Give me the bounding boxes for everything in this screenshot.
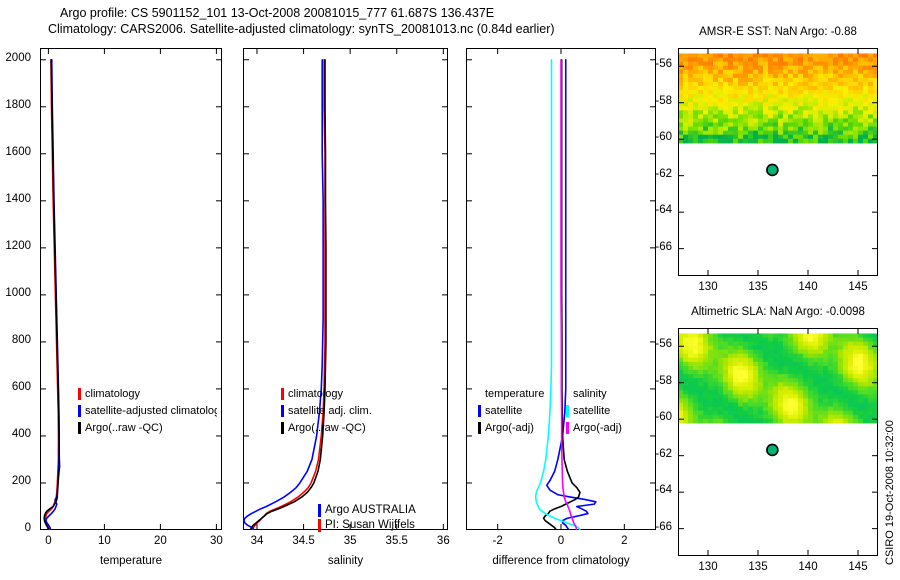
legend-label: climatology [288,388,343,400]
heatmap-cell [758,58,764,63]
heatmap-cell [768,74,774,79]
heatmap-cell [843,53,849,58]
heatmap-cell [718,338,724,343]
heatmap-cell [788,415,794,420]
heatmap-cell [763,53,769,58]
heatmap-cell [713,74,719,79]
heatmap-cell [783,354,789,359]
heatmap-cell [838,114,844,119]
map-y-tick-label: -64 [636,484,672,496]
heatmap-cell [718,123,724,128]
heatmap-cell [713,378,719,383]
heatmap-cell [798,102,804,107]
heatmap-cell [703,333,709,338]
heatmap-cell [753,350,759,355]
legend-label: satellite [573,405,610,417]
heatmap-cell [843,374,849,379]
heatmap-cell [743,390,749,395]
heatmap-cell [713,98,719,103]
heatmap-cell [768,123,774,128]
heatmap-cell [753,66,759,71]
heatmap-cell [713,90,719,95]
heatmap-cell [868,74,874,79]
heatmap-cell [743,407,749,412]
heatmap-cell [748,362,754,367]
heatmap-cell [808,411,814,416]
heatmap-cell [788,66,794,71]
heatmap-cell [863,90,869,95]
heatmap-cell [723,407,729,412]
heatmap-cell [773,114,779,119]
heatmap-cell [703,127,709,132]
heatmap-cell [743,102,749,107]
heatmap-cell [758,407,764,412]
heatmap-cell [718,78,724,83]
heatmap-cell [763,411,769,416]
heatmap-cell [708,370,714,375]
heatmap-cell [858,407,864,412]
heatmap-cell [703,131,709,136]
heatmap-cell [688,82,694,87]
heatmap-cell [733,338,739,343]
heatmap-cell [863,374,869,379]
heatmap-cell [693,390,699,395]
heatmap-cell [708,127,714,132]
heatmap-cell [748,338,754,343]
heatmap-cell [863,74,869,79]
heatmap-cell [783,358,789,363]
heatmap-cell [743,362,749,367]
heatmap-cell [848,102,854,107]
heatmap-cell [718,419,724,424]
heatmap-cell [728,70,734,75]
heatmap-cell [768,98,774,103]
heatmap-cell [738,370,744,375]
heatmap-cell [733,333,739,338]
heatmap-cell [803,411,809,416]
heatmap-cell [713,123,719,128]
heatmap-cell [768,118,774,123]
heatmap-cell [793,131,799,136]
heatmap-cell [863,362,869,367]
heatmap-cell [843,118,849,123]
heatmap-cell [748,118,754,123]
heatmap-cell [798,419,804,424]
x-tick-label: -2 [468,535,528,547]
map-x-tick-label: 140 [783,281,833,293]
heatmap-cell [693,66,699,71]
y-tick-label: 800 [0,334,31,346]
heatmap-cell [718,74,724,79]
heatmap-cell [848,110,854,115]
heatmap-cell [698,106,704,111]
map-y-tick-label: -60 [636,131,672,143]
argo-position-marker[interactable] [767,444,778,455]
heatmap-cell [793,53,799,58]
heatmap-cell [823,53,829,58]
heatmap-cell [733,98,739,103]
heatmap-cell [793,62,799,67]
heatmap-cell [723,386,729,391]
heatmap-cell [788,419,794,424]
heatmap-cell [693,342,699,347]
heatmap-cell [698,358,704,363]
heatmap-cell [758,390,764,395]
heatmap-cell [753,110,759,115]
heatmap-cell [863,123,869,128]
heatmap-cell [743,127,749,132]
heatmap-cell [803,74,809,79]
heatmap-cell [693,350,699,355]
heatmap-cell [783,139,789,144]
heatmap-cell [818,350,824,355]
heatmap-cell [713,419,719,424]
heatmap-cell [783,62,789,67]
heatmap-cell [738,415,744,420]
heatmap-cell [683,411,689,416]
heatmap-cell [843,62,849,67]
heatmap-cell [728,366,734,371]
heatmap-cell [768,394,774,399]
heatmap-cell [688,403,694,408]
heatmap-cell [763,407,769,412]
heatmap-cell [818,370,824,375]
heatmap-cell [733,411,739,416]
heatmap-cell [748,415,754,420]
heatmap-cell [813,118,819,123]
heatmap-cell [753,354,759,359]
heatmap-cell [793,110,799,115]
heatmap-cell [693,374,699,379]
heatmap-cell [763,362,769,367]
heatmap-cell [798,106,804,111]
heatmap-cell [813,419,819,424]
heatmap-cell [718,354,724,359]
heatmap-cell [773,370,779,375]
heatmap-cell [808,415,814,420]
heatmap-cell [808,382,814,387]
heatmap-cell [758,114,764,119]
heatmap-cell [818,78,824,83]
heatmap-cell [818,139,824,144]
heatmap-cell [693,135,699,140]
heatmap-cell [778,346,784,351]
heatmap-cell [798,114,804,119]
heatmap-cell [793,378,799,383]
heatmap-cell [823,127,829,132]
heatmap-cell [693,82,699,87]
heatmap-cell [698,407,704,412]
heatmap-cell [863,98,869,103]
heatmap-cell [683,135,689,140]
heatmap-cell [728,338,734,343]
heatmap-cell [848,366,854,371]
heatmap-cell [813,390,819,395]
heatmap-cell [798,366,804,371]
heatmap-cell [813,98,819,103]
heatmap-cell [743,66,749,71]
heatmap-cell [758,350,764,355]
heatmap-cell [828,94,834,99]
heatmap-cell [823,370,829,375]
heatmap-cell [758,118,764,123]
heatmap-cell [753,366,759,371]
heatmap-cell [773,86,779,91]
heatmap-cell [788,123,794,128]
heatmap-cell [758,106,764,111]
heatmap-cell [788,346,794,351]
heatmap-cell [718,66,724,71]
heatmap-cell [698,390,704,395]
heatmap-cell [768,382,774,387]
heatmap-cell [788,53,794,58]
heatmap-cell [743,346,749,351]
heatmap-cell [738,66,744,71]
heatmap-cell [723,358,729,363]
heatmap-cell [748,346,754,351]
heatmap-cell [753,118,759,123]
map-plot-area [678,48,878,276]
heatmap-cell [803,386,809,391]
heatmap-cell [863,338,869,343]
heatmap-cell [813,62,819,67]
heatmap-cell [808,127,814,132]
heatmap-cell [843,82,849,87]
heatmap-cell [743,403,749,408]
heatmap-cell [713,338,719,343]
map-y-tick-label: -62 [636,448,672,460]
heatmap-cell [793,66,799,71]
heatmap-cell [833,102,839,107]
heatmap-cell [803,123,809,128]
heatmap-cell [853,374,859,379]
legend-label: satellite-adjusted climatology [85,405,217,417]
heatmap-cell [698,338,704,343]
heatmap-cell [753,338,759,343]
heatmap-cell [843,114,849,119]
heatmap-cell [808,66,814,71]
heatmap-cell [718,86,724,91]
heatmap-cell [818,407,824,412]
heatmap-cell [748,366,754,371]
heatmap-cell [863,394,869,399]
heatmap-cell [793,127,799,132]
heatmap-cell [778,394,784,399]
heatmap-cell [723,374,729,379]
heatmap-cell [863,366,869,371]
heatmap-cell [848,114,854,119]
heatmap-cell [818,366,824,371]
heatmap-cell [813,362,819,367]
heatmap-cell [783,333,789,338]
heatmap-cell [753,403,759,408]
heatmap-cell [773,407,779,412]
heatmap-cell [773,338,779,343]
heatmap-cell [783,403,789,408]
heatmap-cell [803,403,809,408]
heatmap-cell [758,139,764,144]
heatmap-cell [823,378,829,383]
heatmap-cell [808,354,814,359]
heatmap-cell [823,70,829,75]
heatmap-cell [853,398,859,403]
heatmap-cell [733,358,739,363]
heatmap-cell [783,102,789,107]
heatmap-cell [783,338,789,343]
heatmap-cell [863,398,869,403]
heatmap-cell [768,102,774,107]
heatmap-cell [843,70,849,75]
heatmap-cell [698,403,704,408]
heatmap-cell [843,94,849,99]
heatmap-cell [748,131,754,136]
heatmap-cell [773,398,779,403]
heatmap-cell [703,90,709,95]
heatmap-cell [728,346,734,351]
heatmap-cell [713,362,719,367]
heatmap-cell [693,131,699,136]
heatmap-cell [843,102,849,107]
heatmap-cell [768,386,774,391]
heatmap-cell [718,131,724,136]
heatmap-cell [703,135,709,140]
heatmap-cell [828,378,834,383]
heatmap-cell [828,411,834,416]
heatmap-cell [713,82,719,87]
heatmap-cell [848,139,854,144]
heatmap-cell [703,74,709,79]
heatmap-cell [858,131,864,136]
heatmap-cell [863,378,869,383]
heatmap-cell [833,419,839,424]
heatmap-cell [693,106,699,111]
heatmap-cell [803,102,809,107]
heatmap-cell [768,139,774,144]
heatmap-cell [798,110,804,115]
heatmap-cell [868,62,874,67]
heatmap-cell [778,378,784,383]
heatmap-cell [728,86,734,91]
heatmap-cell [863,66,869,71]
heatmap-cell [823,66,829,71]
argo-position-marker[interactable] [767,164,778,175]
heatmap-cell [763,139,769,144]
heatmap-cell [778,407,784,412]
heatmap-cell [683,366,689,371]
heatmap-cell [858,386,864,391]
heatmap-cell [688,94,694,99]
heatmap-cell [783,58,789,63]
heatmap-cell [828,135,834,140]
heatmap-cell [703,53,709,58]
heatmap-cell [833,378,839,383]
heatmap-cell [793,350,799,355]
heatmap-cell [733,53,739,58]
heatmap-cell [743,382,749,387]
heatmap-cell [698,58,704,63]
heatmap-cell [758,378,764,383]
heatmap-cell [858,139,864,144]
heatmap-cell [823,346,829,351]
heatmap-cell [778,333,784,338]
heatmap-cell [823,366,829,371]
heatmap-cell [803,70,809,75]
map-title-altimetric-sla-map: Altimetric SLA: NaN Argo: -0.0098 [658,306,898,318]
heatmap-cell [703,58,709,63]
heatmap-cell [853,66,859,71]
heatmap-cell [803,333,809,338]
heatmap-cell [683,74,689,79]
heatmap-cell [683,370,689,375]
heatmap-cell [763,127,769,132]
heatmap-cell [763,62,769,67]
heatmap-cell [773,419,779,424]
map-y-tick-label: -60 [636,411,672,423]
heatmap-cell [708,419,714,424]
heatmap-cell [853,110,859,115]
heatmap-cell [823,338,829,343]
heatmap-cell [803,350,809,355]
heatmap-cell [683,98,689,103]
heatmap-cell [833,58,839,63]
heatmap-cell [853,135,859,140]
heatmap-cell [808,378,814,383]
y-tick-label: 400 [0,428,31,440]
heatmap-cell [853,62,859,67]
heatmap-cell [698,70,704,75]
heatmap-cell [713,354,719,359]
heatmap-cell [798,370,804,375]
heatmap-cell [823,407,829,412]
heatmap-cell [748,382,754,387]
heatmap-cell [768,346,774,351]
heatmap-cell [848,362,854,367]
heatmap-cell [848,98,854,103]
heatmap-cell [818,123,824,128]
legend-swatch [566,405,569,417]
heatmap-cell [683,378,689,383]
heatmap-cell [858,390,864,395]
heatmap-cell [768,362,774,367]
heatmap-cell [828,114,834,119]
heatmap-cell [728,82,734,87]
heatmap-cell [693,378,699,383]
heatmap-cell [823,386,829,391]
heatmap-cell [813,102,819,107]
heatmap-cell [808,394,814,399]
heatmap-cell [738,53,744,58]
heatmap-cell [748,419,754,424]
heatmap-cell [728,394,734,399]
heatmap-cell [758,362,764,367]
heatmap-cell [848,333,854,338]
heatmap-cell [783,106,789,111]
heatmap-cell [688,350,694,355]
heatmap-cell [803,82,809,87]
heatmap-cell [823,102,829,107]
heatmap-cell [698,362,704,367]
heatmap-cell [783,90,789,95]
heatmap-cell [753,378,759,383]
heatmap-cell [703,358,709,363]
heatmap-cell [768,378,774,383]
heatmap-cell [818,66,824,71]
heatmap-cell [823,394,829,399]
heatmap-cell [838,102,844,107]
heatmap-cell [843,390,849,395]
heatmap-cell [728,398,734,403]
heatmap-cell [843,419,849,424]
